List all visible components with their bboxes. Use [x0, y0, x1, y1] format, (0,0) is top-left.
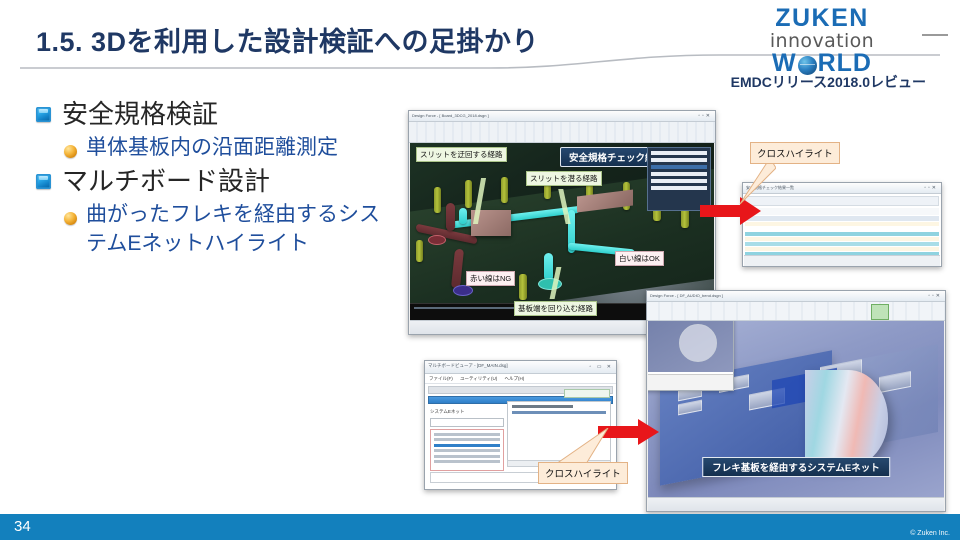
panel-field — [651, 172, 707, 176]
component-post — [501, 177, 508, 203]
label-slit-under-route: スリットを潜る経路 — [526, 171, 602, 186]
menu-item-help[interactable]: ヘルプ(H) — [499, 376, 525, 381]
viewport-3d-flex[interactable]: フレキ基板を経由するシステムEネット — [648, 321, 944, 497]
view-orientation-icon[interactable] — [679, 324, 717, 362]
table-row[interactable] — [745, 247, 939, 251]
label-white-line-ok: 白い線はOK — [615, 251, 664, 266]
net-list-item — [434, 460, 500, 463]
zuken-innovation-world-logo: ZUKEN innovation W RLD — [742, 6, 902, 76]
logo-line-zuken: ZUKEN — [742, 6, 902, 31]
net-list-item — [434, 438, 500, 441]
table-data-row — [512, 411, 606, 414]
menu-item-utility[interactable]: ユーティリティ(U) — [454, 376, 497, 381]
filter-row[interactable] — [430, 418, 504, 427]
via-pad — [453, 285, 473, 296]
component-post — [465, 180, 472, 208]
net-list-item — [434, 449, 500, 452]
bullet-level1-item: 安全規格検証 — [30, 97, 410, 132]
table-row[interactable] — [745, 227, 939, 231]
bullet-level2-label: 単体基板内の沿面距離測定 — [86, 134, 338, 163]
window-titlebar: マルチボードビューア - [DF_MAIN.dsg] ▫ ▭ ✕ — [425, 361, 616, 374]
mini-toolbar[interactable] — [648, 374, 733, 390]
update-button[interactable] — [564, 389, 610, 398]
window-ribbon — [647, 302, 945, 321]
copyright-text: © Zuken Inc. — [910, 530, 950, 537]
label-slit-bypass-route: スリットを迂回する経路 — [416, 147, 507, 162]
table-row-highlighted[interactable] — [745, 232, 939, 236]
label-board-edge-route: 基板端を回り込む経路 — [514, 301, 597, 316]
net-list-item-selected — [434, 444, 500, 447]
window-taskbar — [648, 497, 944, 511]
bullet-level1-item: マルチボード設計 — [30, 164, 410, 199]
table-filter-row — [745, 208, 939, 215]
screenshot-design-force-flex: Design Force - [ DF_AUDIO_bend.dsgn ] ▫▫… — [646, 290, 946, 512]
table-status-bar — [744, 255, 940, 266]
net-trace-cyan — [544, 253, 553, 281]
slide-root: 1.5. 3Dを利用した設計検証への足掛かり ZUKEN innovation … — [0, 0, 960, 540]
square-bullet-icon — [36, 107, 51, 122]
component-post — [416, 240, 423, 262]
bullet-level2-label: 曲がったフレキを経由するシステムEネットハイライト — [86, 201, 386, 258]
window-ribbon — [409, 122, 715, 143]
window-title: マルチボードビューア - [DF_MAIN.dsg] — [428, 363, 508, 368]
bullet-level2-item: 単体基板内の沿面距離測定 — [30, 134, 410, 163]
window-title: Design Force - [ DF_AUDIO_bend.dsgn ] — [650, 293, 723, 298]
net-trace-maroon — [446, 203, 455, 231]
slide-footer: 34 © Zuken Inc. — [0, 514, 960, 540]
section-label-system-e-net: システムEネット — [430, 409, 464, 415]
label-red-line-ng: 赤い線はNG — [466, 271, 515, 286]
callout-tail-top — [736, 158, 776, 206]
window-title: Design Force - [ Board_3DCG_2018.dsgn ] — [412, 113, 489, 118]
page-number: 34 — [14, 518, 31, 535]
bullet-level2-item: 曲がったフレキを経由するシステムEネットハイライト — [30, 201, 410, 258]
table-row[interactable] — [745, 222, 939, 226]
bullet-list: 安全規格検証 単体基板内の沿面距離測定 マルチボード設計 曲がったフレキを経由す… — [30, 97, 410, 260]
panel-field — [651, 151, 707, 155]
flex-ribbon-cable — [805, 370, 888, 467]
menu-bar[interactable]: ファイル(F) ユーティリティ(U) ヘルプ(H) — [425, 374, 616, 384]
window-controls-icon: ▫ ▭ ✕ — [590, 364, 613, 370]
square-bullet-icon — [36, 174, 51, 189]
bullet-level1-label: マルチボード設計 — [62, 164, 270, 199]
table-row-highlighted[interactable] — [745, 242, 939, 246]
slide-subtitle: EMDCリリース2018.0レビュー — [731, 72, 926, 92]
panel-field — [651, 179, 707, 183]
table-header-row — [512, 405, 573, 408]
panel-field-highlighted — [651, 165, 707, 169]
net-trace-cyan — [459, 208, 467, 224]
ribbon-active-button[interactable] — [871, 304, 889, 320]
panel-field — [651, 186, 707, 190]
bullet-level1-label: 安全規格検証 — [62, 97, 218, 132]
view-banner-flex-net: フレキ基板を経由するシステムEネット — [702, 457, 890, 477]
menu-item-file[interactable]: ファイル(F) — [429, 376, 453, 381]
window-titlebar: Design Force - [ Board_3DCG_2018.dsgn ] … — [409, 111, 715, 122]
table-column-headers — [745, 216, 939, 221]
floating-view-cube-panel[interactable] — [648, 321, 734, 391]
net-list-item — [434, 455, 500, 458]
panel-field — [651, 158, 707, 162]
window-titlebar: Design Force - [ DF_AUDIO_bend.dsgn ] ▫▫… — [647, 291, 945, 302]
component-post — [519, 274, 527, 300]
window-controls-icon: ▫▫✕ — [924, 185, 938, 191]
sphere-bullet-icon — [64, 145, 77, 158]
net-list-item — [434, 433, 500, 436]
table-row[interactable] — [745, 237, 939, 241]
window-controls-icon: ▫▫✕ — [698, 113, 712, 119]
sphere-bullet-icon — [64, 212, 77, 225]
callout-cross-highlight-top: クロスハイライト — [750, 142, 840, 164]
callout-tail-bottom — [556, 428, 610, 466]
logo-dash-decoration — [922, 34, 948, 36]
callout-cross-highlight-bottom: クロスハイライト — [538, 462, 628, 484]
net-list[interactable] — [430, 429, 504, 471]
component-post — [434, 187, 441, 213]
window-controls-icon: ▫▫✕ — [928, 293, 942, 299]
